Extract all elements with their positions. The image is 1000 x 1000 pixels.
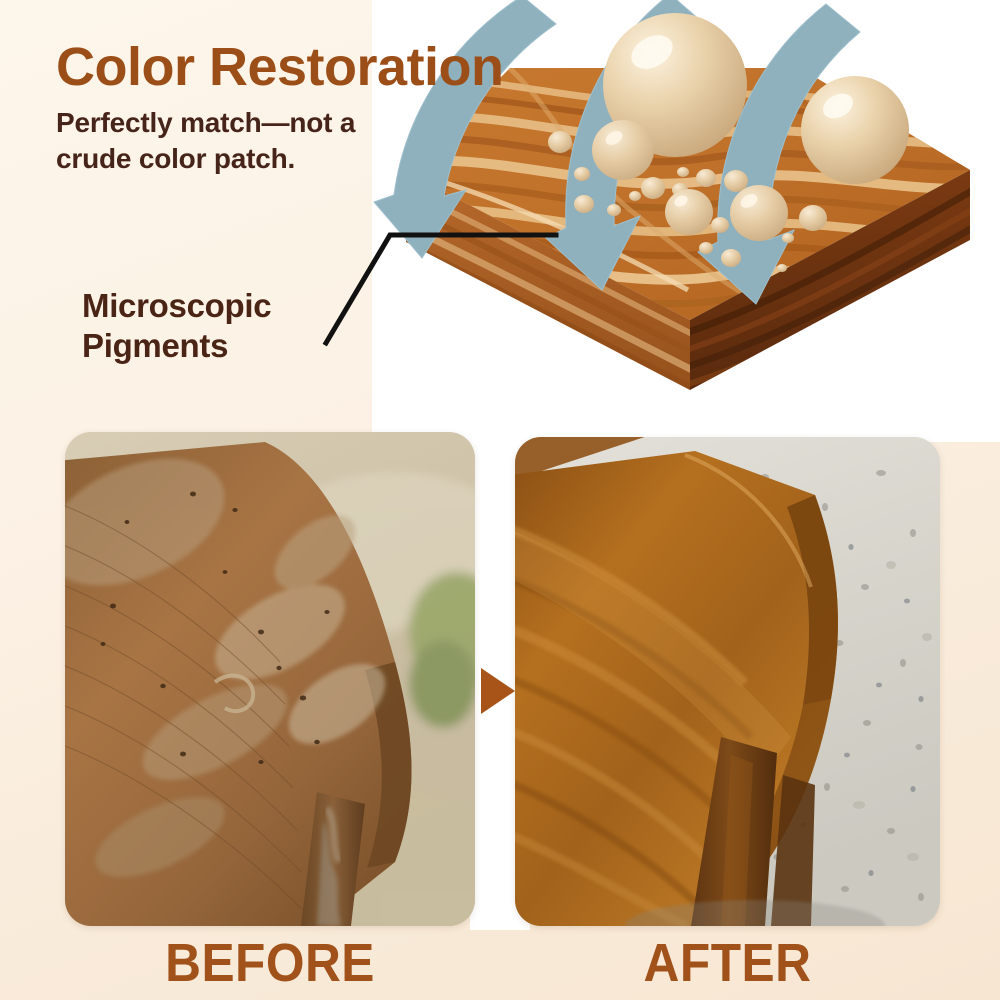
callout-line-2: Pigments bbox=[82, 327, 228, 364]
infographic-root: Color Restoration Perfectly match—not a … bbox=[0, 0, 1000, 1000]
subtitle-line-2: crude color patch. bbox=[56, 143, 295, 174]
before-photo-panel[interactable] bbox=[65, 432, 475, 926]
after-photo-panel[interactable] bbox=[515, 437, 940, 926]
after-photo bbox=[515, 437, 940, 926]
headline-block: Color Restoration Perfectly match—not a … bbox=[56, 40, 616, 177]
callout-label-microscopic-pigments: Microscopic Pigments bbox=[82, 286, 271, 367]
large-pigment-sphere-2 bbox=[801, 76, 909, 184]
after-caption: AFTER bbox=[532, 932, 923, 994]
before-caption: BEFORE bbox=[81, 932, 458, 994]
callout-line-1: Microscopic bbox=[82, 287, 271, 324]
before-after-separator-icon bbox=[481, 668, 515, 714]
page-subtitle: Perfectly match—not a crude color patch. bbox=[56, 105, 616, 177]
before-photo bbox=[65, 432, 475, 926]
page-title: Color Restoration bbox=[56, 40, 616, 95]
subtitle-line-1: Perfectly match—not a bbox=[56, 107, 355, 138]
leader-polyline bbox=[326, 235, 556, 343]
callout-leader-line bbox=[300, 215, 560, 375]
